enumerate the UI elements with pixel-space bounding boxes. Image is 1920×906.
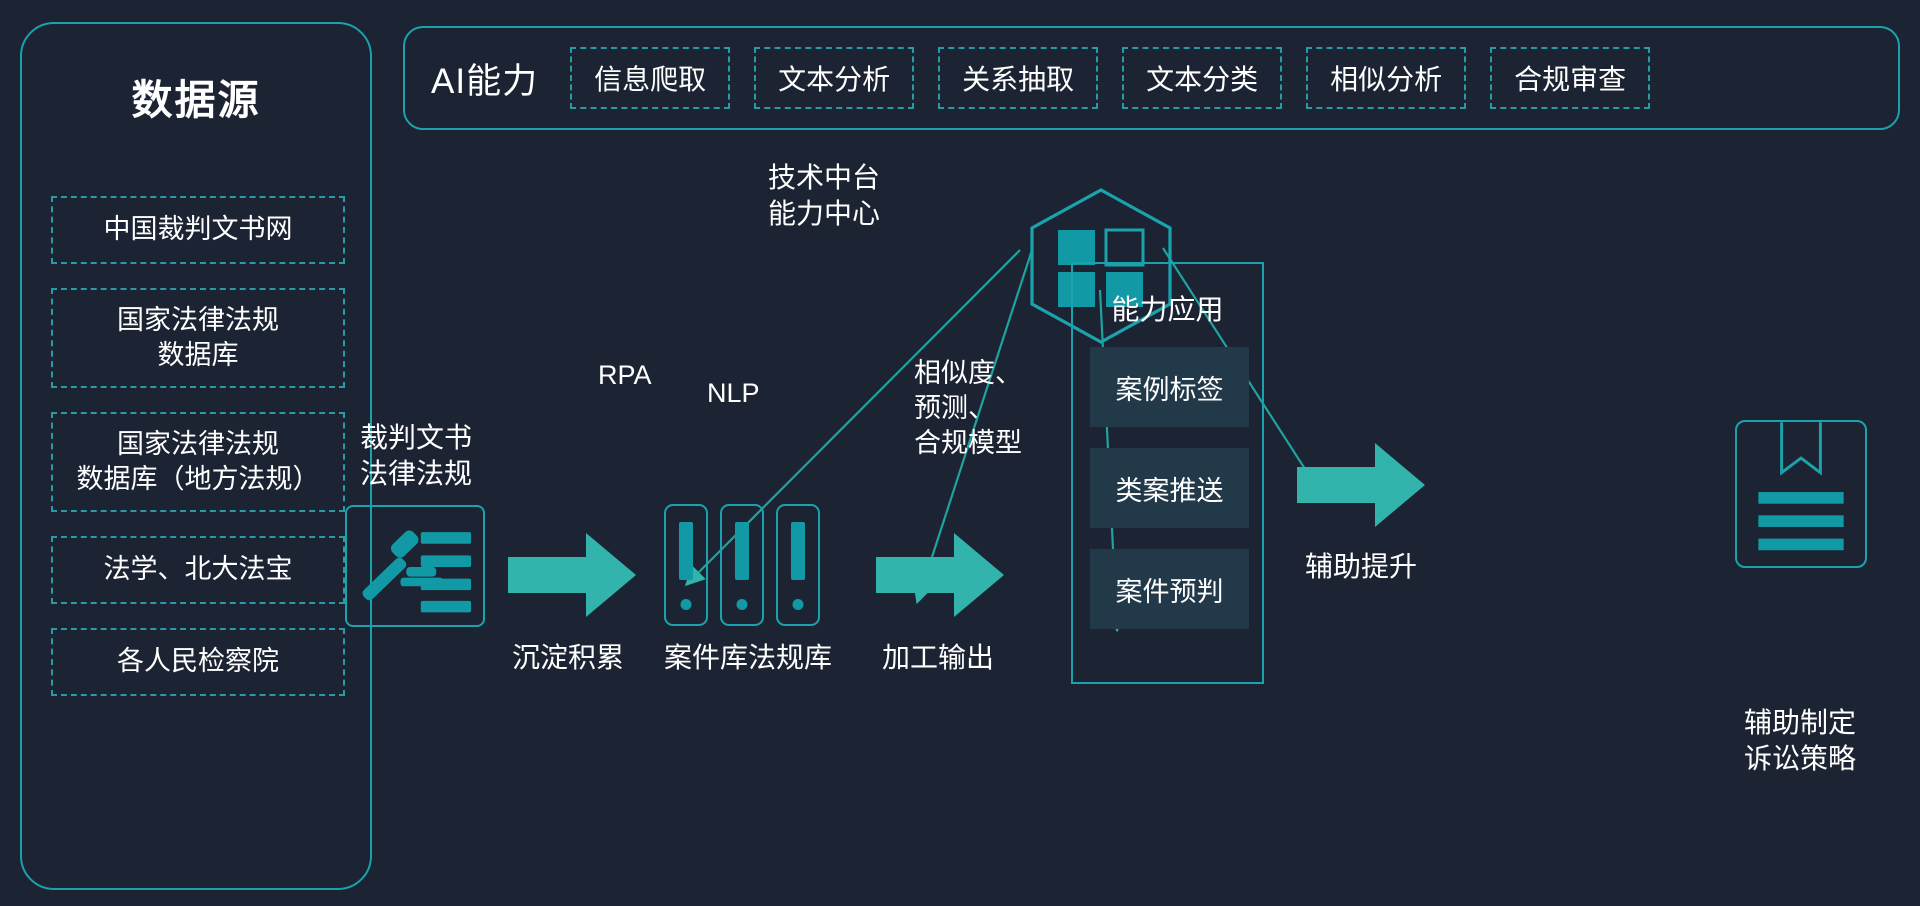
flow-arrow-3 xyxy=(1297,443,1425,527)
ai-capability-tag[interactable]: 信息爬取 xyxy=(570,47,730,109)
flow-arrow-1-caption: 沉淀积累 xyxy=(495,640,641,676)
ai-capability-bar: AI能力 信息爬取 文本分析 关系抽取 文本分类 相似分析 合规审查 xyxy=(403,26,1900,130)
flow-arrow-1 xyxy=(508,533,636,617)
databases-caption: 案件库法规库 xyxy=(648,640,848,676)
bookmark-document-icon xyxy=(1735,420,1867,568)
ai-capability-tag[interactable]: 文本分类 xyxy=(1122,47,1282,109)
data-source-item[interactable]: 国家法律法规 数据库（地方法规） xyxy=(51,412,345,512)
data-source-list: 中国裁判文书网 国家法律法规 数据库 国家法律法规 数据库（地方法规） 法学、北… xyxy=(51,196,345,696)
hub-label: 技术中台 能力中心 xyxy=(690,160,880,233)
data-source-panel: 数据源 中国裁判文书网 国家法律法规 数据库 国家法律法规 数据库（地方法规） … xyxy=(20,22,372,890)
edge-label-nlp: NLP xyxy=(707,376,760,411)
ai-capability-tag[interactable]: 关系抽取 xyxy=(938,47,1098,109)
data-source-item[interactable]: 中国裁判文书网 xyxy=(51,196,345,264)
ai-capability-tag[interactable]: 文本分析 xyxy=(754,47,914,109)
capability-application-panel: 能力应用 案例标签 类案推送 案件预判 xyxy=(1071,262,1264,684)
edge-label-rpa: RPA xyxy=(598,358,652,393)
flow-arrow-2 xyxy=(876,533,1004,617)
documents-title: 裁判文书 法律法规 xyxy=(338,420,494,493)
capability-item[interactable]: 类案推送 xyxy=(1090,448,1249,528)
capability-item[interactable]: 案件预判 xyxy=(1090,549,1249,629)
flow-arrow-2-caption: 加工输出 xyxy=(865,640,1011,676)
ai-capability-title: AI能力 xyxy=(431,53,538,104)
server-unit xyxy=(720,504,764,626)
server-rack-icon xyxy=(664,504,820,626)
data-source-item[interactable]: 法学、北大法宝 xyxy=(51,536,345,604)
edge-label-model: 相似度、 预测、 合规模型 xyxy=(914,356,1022,461)
capability-item[interactable]: 案例标签 xyxy=(1090,347,1249,427)
capability-item-list: 案例标签 类案推送 案件预判 xyxy=(1090,347,1249,629)
flow-arrow-3-caption: 辅助提升 xyxy=(1288,549,1434,585)
data-source-title: 数据源 xyxy=(22,66,370,126)
data-source-item[interactable]: 国家法律法规 数据库 xyxy=(51,288,345,388)
ai-capability-tag[interactable]: 相似分析 xyxy=(1306,47,1466,109)
gavel-document-icon xyxy=(345,505,485,627)
data-source-item[interactable]: 各人民检察院 xyxy=(51,628,345,696)
server-unit xyxy=(664,504,708,626)
output-caption: 辅助制定 诉讼策略 xyxy=(1700,705,1900,778)
server-unit xyxy=(776,504,820,626)
ai-capability-tag[interactable]: 合规审查 xyxy=(1490,47,1650,109)
diagram-canvas: 数据源 中国裁判文书网 国家法律法规 数据库 国家法律法规 数据库（地方法规） … xyxy=(0,0,1920,906)
capability-panel-title: 能力应用 xyxy=(1073,288,1262,328)
